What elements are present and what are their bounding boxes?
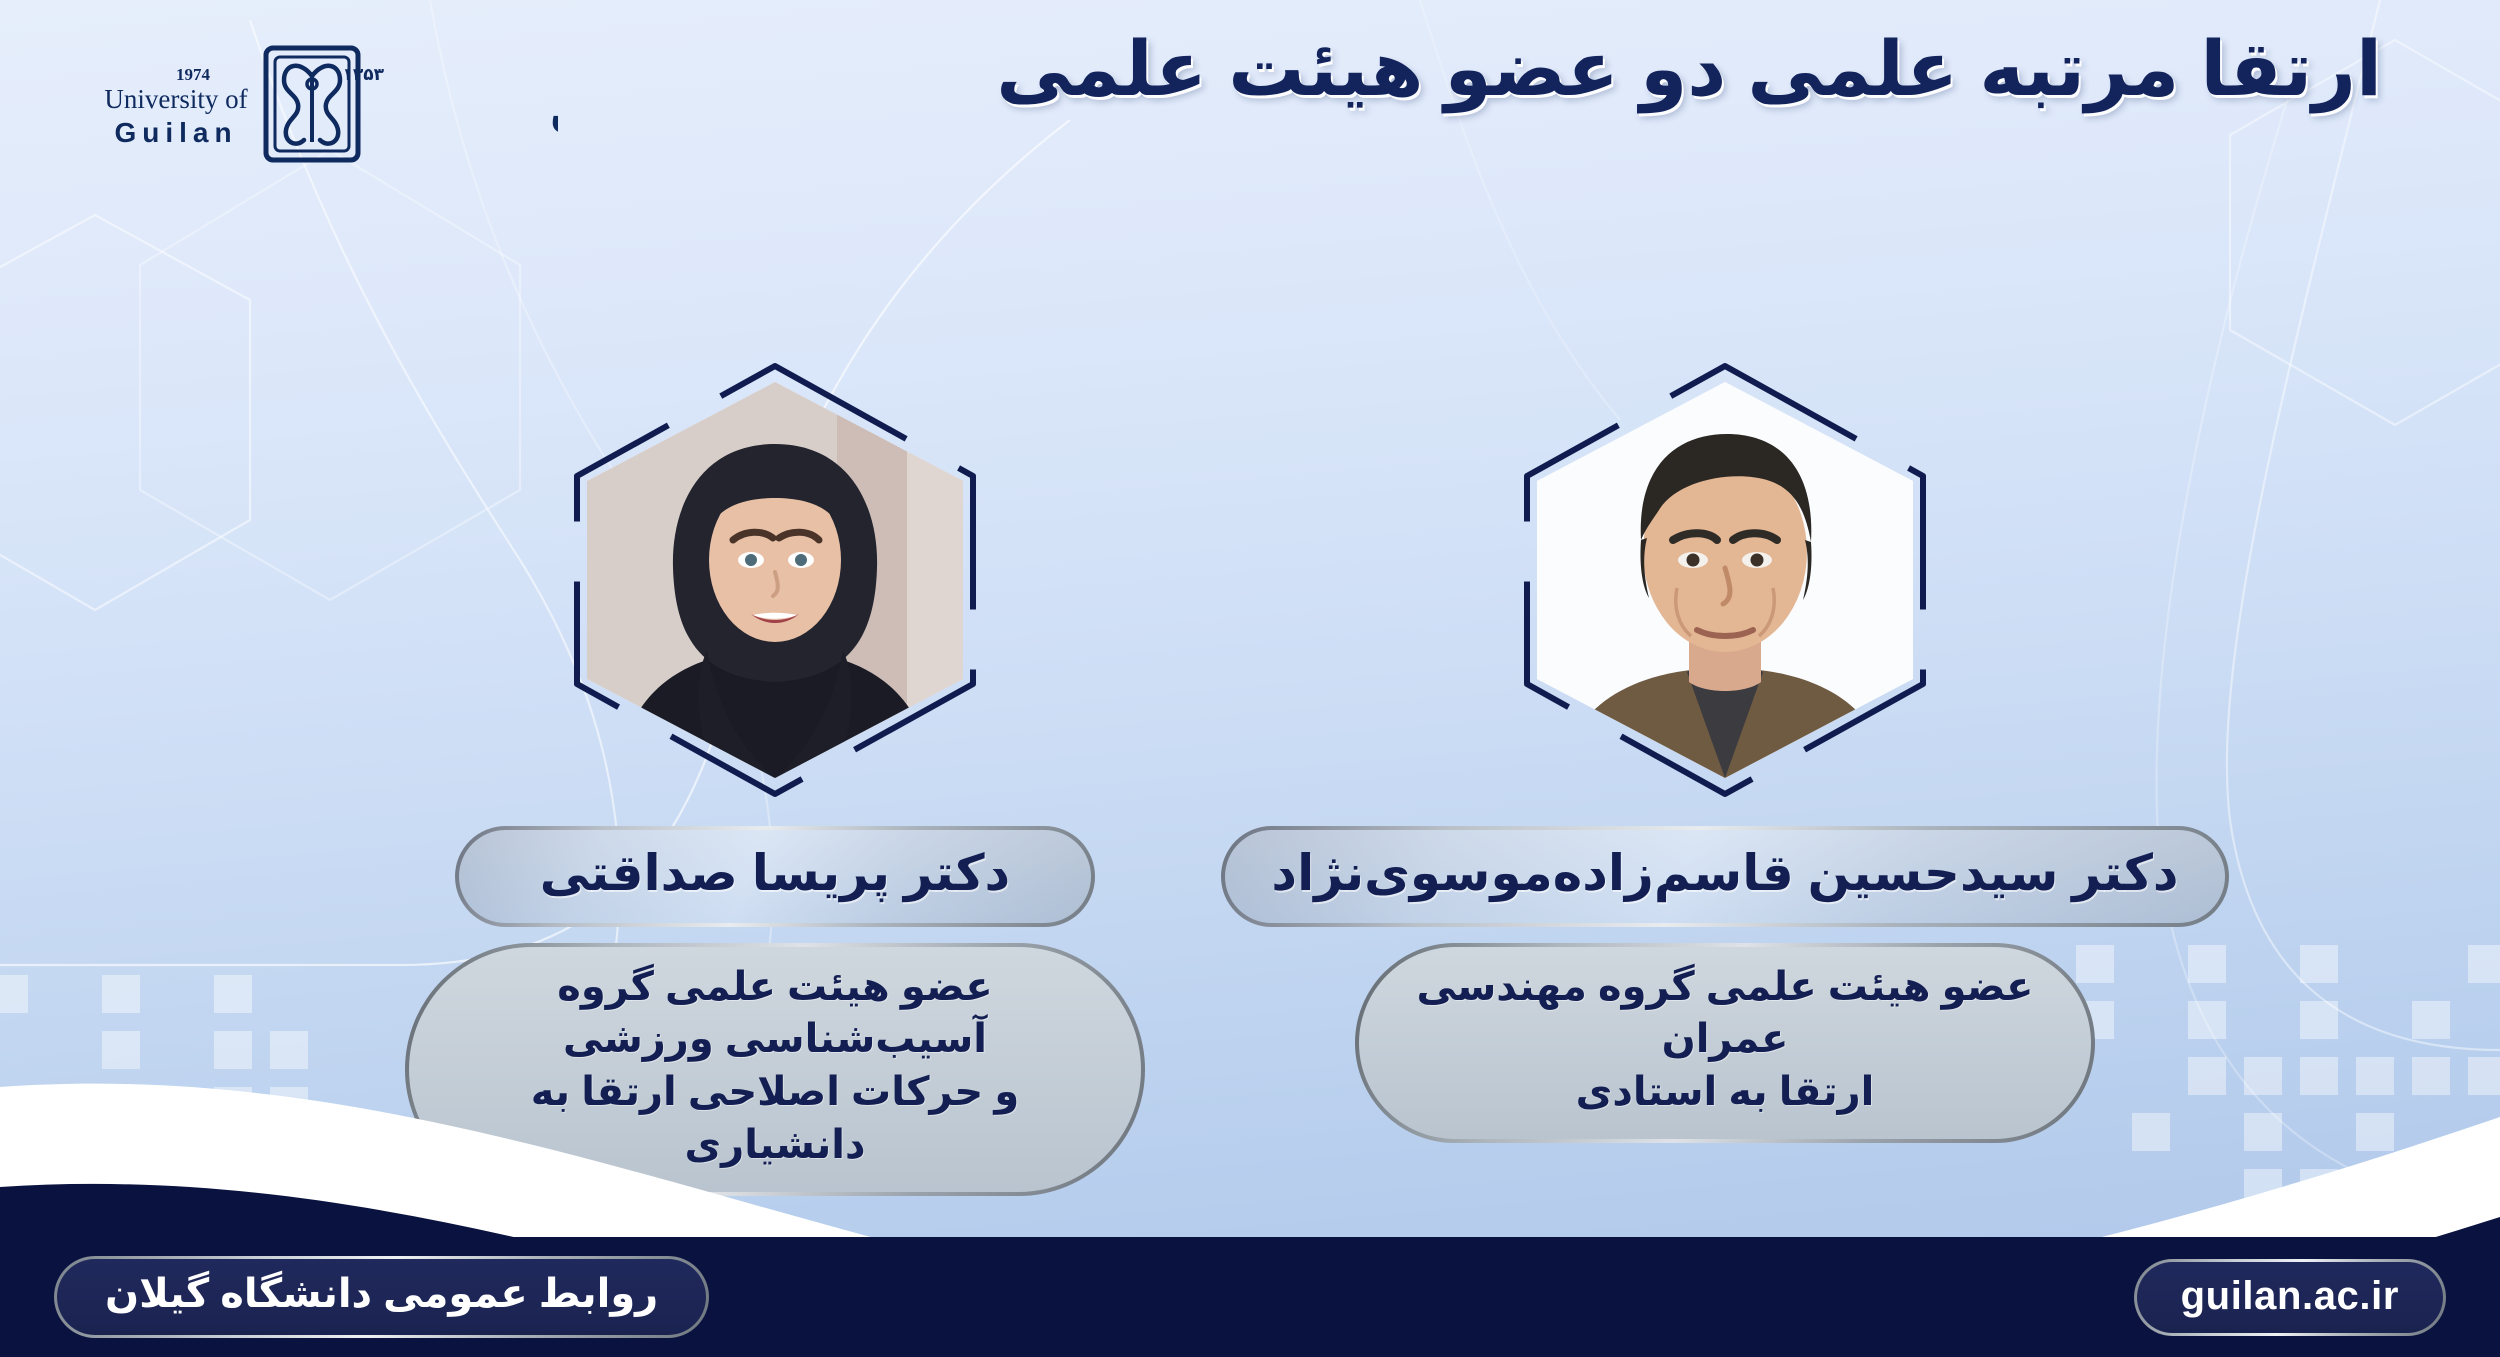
hex-frame-outline [1515, 360, 1935, 800]
promotion-banner: 1974 University of Guilan ۱۳۵۳ دانشگاه گ… [0, 0, 2500, 1357]
logo-year-fa: ۱۳۵۳ [342, 65, 384, 85]
university-logo: 1974 University of Guilan ۱۳۵۳ دانشگاه گ… [88, 38, 558, 168]
hex-photo-frame [1515, 360, 1935, 800]
logo-university-of: University of [104, 84, 247, 114]
honoree-name: دکتر پریسا صداقتی [455, 826, 1095, 927]
website-url-chip[interactable]: guilan.ac.ir [2134, 1259, 2446, 1336]
honoree-name: دکتر سیدحسین قاسم‌زاده‌موسوی‌نژاد [1221, 826, 2228, 927]
logo-guilan: Guilan [114, 117, 237, 148]
guilan-logo-mark: 1974 University of Guilan ۱۳۵۳ دانشگاه گ… [88, 38, 558, 168]
logo-year-en: 1974 [176, 65, 211, 84]
public-relations-chip: روابط عمومی دانشگاه گیلان [54, 1256, 709, 1338]
page-title: ارتقا مرتبه علمی دو عضو هیئت علمی [882, 22, 2382, 117]
footer: guilan.ac.ir روابط عمومی دانشگاه گیلان [0, 1237, 2500, 1357]
hex-photo-frame [565, 360, 985, 800]
hex-frame-outline [565, 360, 985, 800]
logo-name-fa: دانشگاه گیلان [550, 85, 558, 137]
